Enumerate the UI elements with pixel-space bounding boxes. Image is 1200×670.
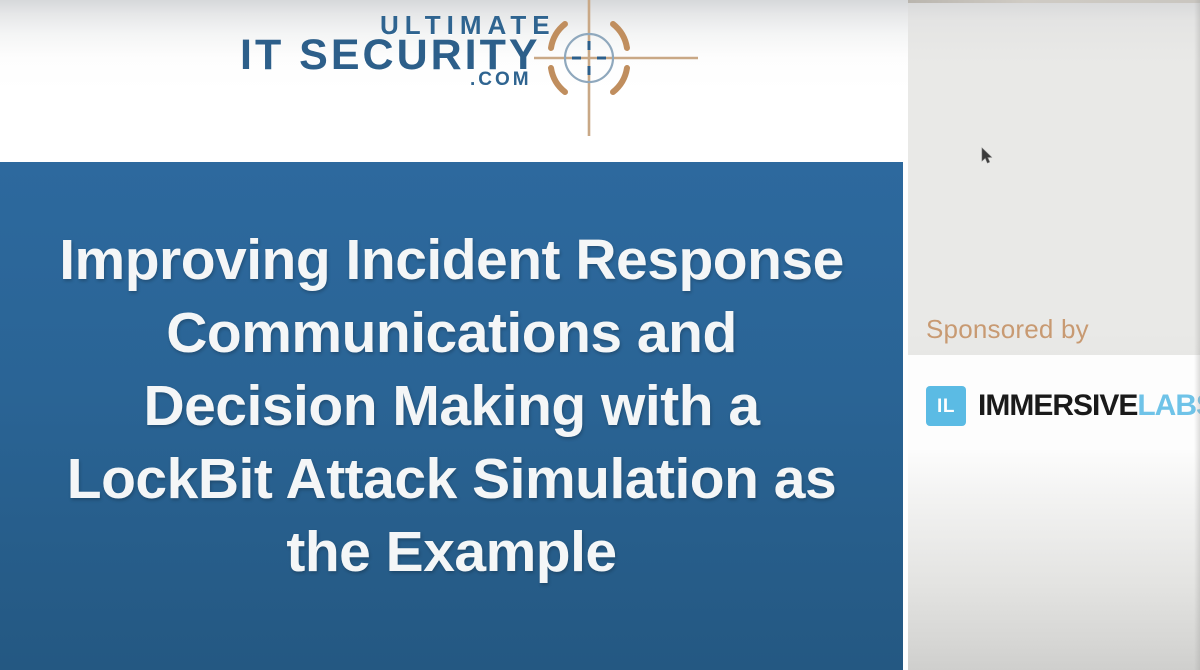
- sponsored-by-label: Sponsored by: [926, 316, 1089, 342]
- crosshair-target-icon: [532, 0, 702, 144]
- logo-word-dotcom: .COM: [470, 70, 532, 89]
- page-title: Improving Incident Response Communicatio…: [46, 224, 857, 589]
- sponsor-logo-band: IL IMMERSIVELABS: [908, 355, 1200, 450]
- sidebar-lower-panel: [908, 450, 1200, 670]
- sidebar-upper-panel: Sponsored by: [908, 3, 1200, 355]
- ultimate-it-security-logo: ULTIMATE IT SECURITY .COM: [232, 4, 702, 144]
- webinar-slide-screen: ULTIMATE IT SECURITY .COM: [0, 0, 1200, 670]
- slide-title-panel: Improving Incident Response Communicatio…: [0, 162, 903, 670]
- immersive-labs-wordmark: IMMERSIVELABS: [978, 391, 1200, 421]
- immersive-labs-badge-icon: IL: [926, 386, 966, 426]
- presentation-slide: ULTIMATE IT SECURITY .COM: [0, 0, 908, 670]
- wordmark-immersive: IMMERSIVE: [978, 389, 1137, 422]
- immersive-labs-logo[interactable]: IL IMMERSIVELABS: [926, 386, 1200, 426]
- immersive-labs-badge-text: IL: [937, 397, 955, 416]
- slide-title-block: Improving Incident Response Communicatio…: [0, 224, 903, 589]
- wordmark-labs: LABS: [1137, 389, 1200, 422]
- slide-header-band: ULTIMATE IT SECURITY .COM: [0, 0, 908, 162]
- sponsor-sidebar: Sponsored by IL IMMERSIVELABS: [908, 0, 1200, 670]
- sidebar-right-edge-shadow: [1194, 0, 1200, 670]
